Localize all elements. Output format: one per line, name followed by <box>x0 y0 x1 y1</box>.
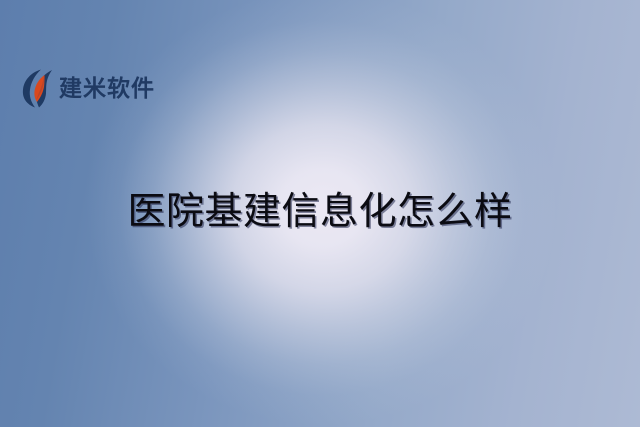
promo-banner: 建米软件 医院基建信息化怎么样 <box>0 0 640 427</box>
page-title: 医院基建信息化怎么样 <box>0 188 640 236</box>
brand-logo[interactable]: 建米软件 <box>21 69 155 108</box>
brand-logo-text: 建米软件 <box>59 77 155 100</box>
jianmi-leaf-mark-icon <box>21 69 53 108</box>
